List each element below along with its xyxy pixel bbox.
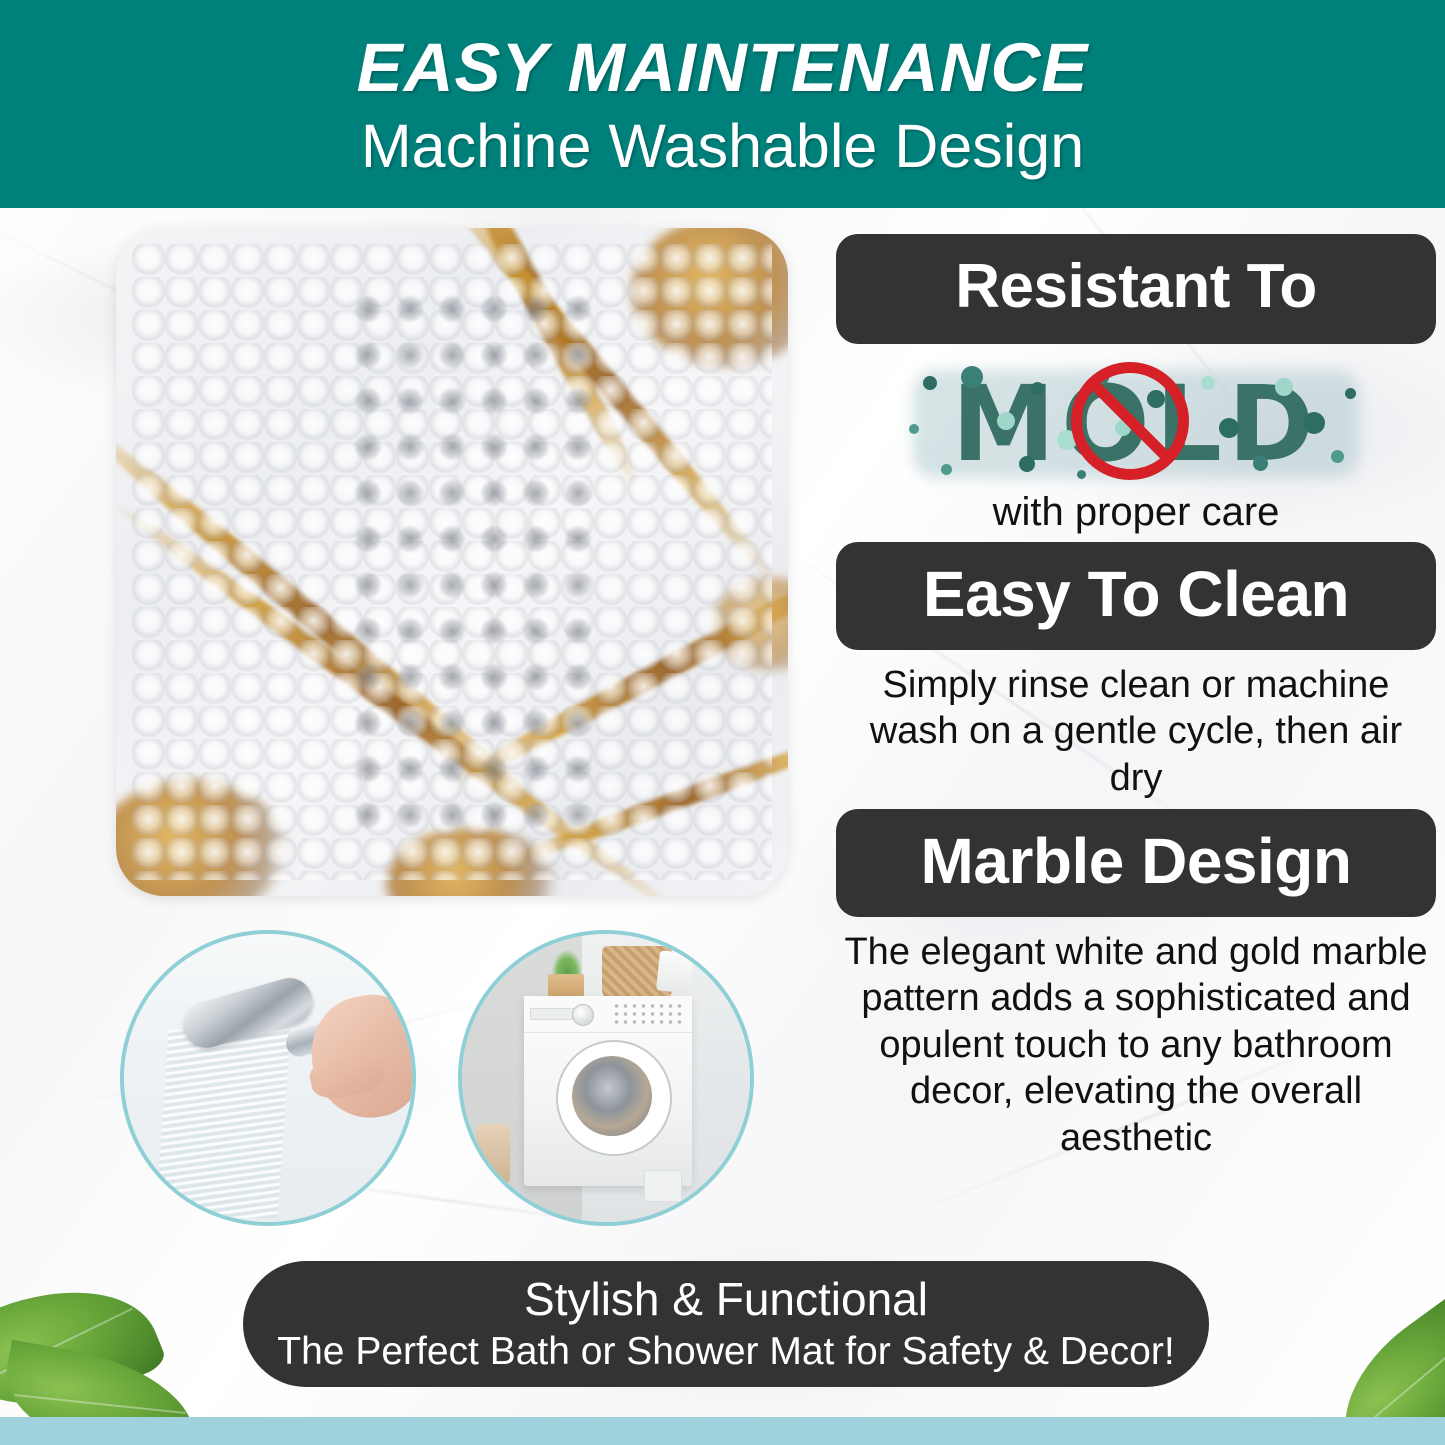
infographic-page: EASY MAINTENANCE Machine Washable Design — [0, 0, 1445, 1445]
footer-banner: Stylish & Functional The Perfect Bath or… — [243, 1261, 1209, 1387]
bottom-color-strip — [0, 1417, 1445, 1445]
feature-badge-resistant-to: Resistant To — [836, 234, 1436, 344]
feature-body-marble-design: The elegant white and gold marble patter… — [836, 929, 1436, 1161]
footer-banner-subtitle: The Perfect Bath or Shower Mat for Safet… — [277, 1332, 1174, 1373]
footer-banner-title: Stylish & Functional — [524, 1275, 928, 1323]
header-banner: EASY MAINTENANCE Machine Washable Design — [0, 0, 1445, 208]
page-title: EASY MAINTENANCE — [357, 33, 1089, 102]
feature-list: Resistant To MOLD with p — [836, 234, 1436, 1161]
prohibition-icon — [1071, 362, 1189, 480]
feature-badge-easy-to-clean: Easy To Clean — [836, 542, 1436, 650]
mold-graphic: MOLD — [901, 360, 1371, 488]
feature-badge-marble-design: Marble Design — [836, 809, 1436, 917]
water-stream — [155, 1030, 290, 1218]
photo-washing-machine — [458, 930, 754, 1226]
photo-shower-head-rinsing — [120, 930, 416, 1226]
folded-towel — [656, 950, 694, 993]
product-image-shower-mat — [116, 228, 788, 896]
potted-plant — [544, 950, 588, 998]
drainage-holes-texture — [347, 286, 597, 836]
feature-body-easy-to-clean: Simply rinse clean or machine wash on a … — [836, 662, 1436, 801]
page-subtitle: Machine Washable Design — [361, 114, 1084, 178]
feature-caption-with-proper-care: with proper care — [836, 490, 1436, 534]
